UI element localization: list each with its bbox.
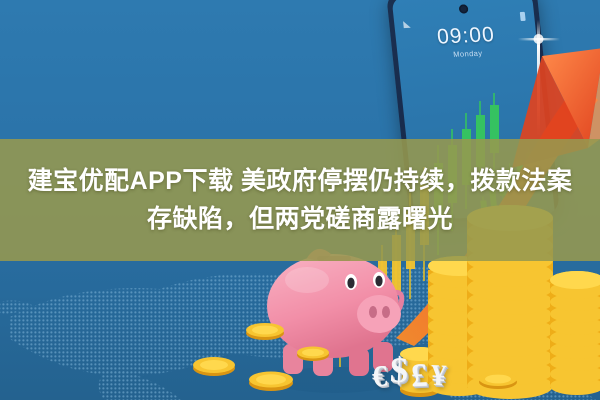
gold-coin-icon — [245, 322, 285, 340]
gold-coin-icon — [192, 356, 236, 376]
gold-coin-stack-icon — [546, 250, 600, 400]
article-cover-image: 09:00 Monday — [0, 0, 600, 400]
headline-line-2: 存缺陷，但两党磋商露曙光 — [147, 200, 453, 238]
headline-text-container: 建宝优配APP下载 美政府停摆仍持续，拨款法案 存缺陷，但两党磋商露曙光 — [0, 139, 600, 261]
yen-symbol: ¥ — [430, 361, 447, 392]
battery-icon — [520, 12, 526, 21]
dollar-symbol: $ — [389, 352, 408, 389]
euro-symbol: € — [371, 362, 388, 393]
gold-coin-icon — [248, 370, 294, 391]
headline-line-1: 建宝优配APP下载 美政府停摆仍持续，拨款法案 — [28, 162, 573, 200]
gold-coin-icon — [478, 371, 518, 389]
front-camera-icon — [459, 4, 469, 13]
gold-coin-icon — [296, 345, 330, 361]
pound-symbol: £ — [410, 360, 428, 394]
currency-symbols-group: € $ £ ¥ — [372, 346, 484, 394]
